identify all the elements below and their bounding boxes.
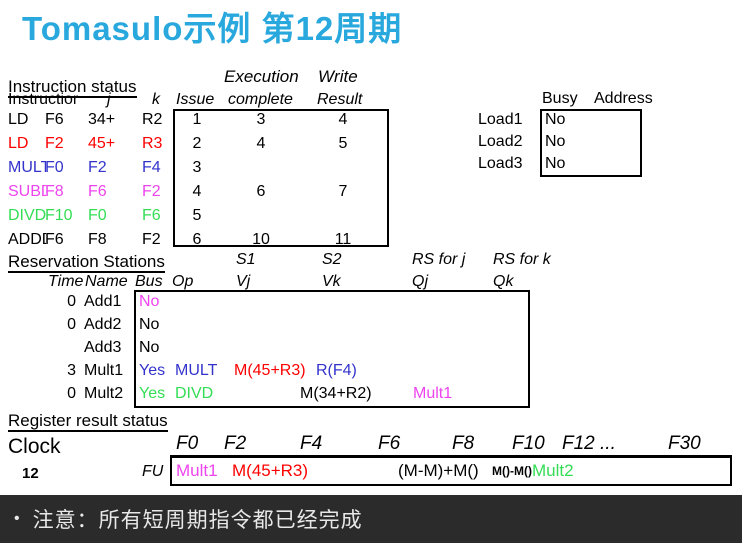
instr-j: 45+ xyxy=(88,136,115,152)
register-value-F0: Mult1 xyxy=(176,462,218,479)
instr-op: SUBD xyxy=(8,184,46,200)
load-unit-name: Load1 xyxy=(478,112,523,128)
instr-k: F6 xyxy=(142,208,161,224)
instr-issue: 1 xyxy=(180,112,214,128)
instr-op: LD xyxy=(8,112,46,128)
header-rs-for-j: RS for j xyxy=(412,252,465,268)
fu-label: FU xyxy=(142,464,163,480)
header-s2: S2 xyxy=(322,252,342,268)
instr-dest: F0 xyxy=(45,160,64,176)
header-time: Time xyxy=(48,274,83,290)
register-header-F4: F4 xyxy=(300,434,322,453)
register-value-F10: Mult2 xyxy=(532,462,574,479)
clock-label: Clock xyxy=(8,436,61,457)
rs-op: MULT xyxy=(175,363,217,379)
instr-complete: 6 xyxy=(240,184,282,200)
instr-op: LD xyxy=(8,136,46,152)
instr-op: ADDD xyxy=(8,232,46,248)
footer-note-bar: • 注意：所有短周期指令都已经完成 xyxy=(0,495,742,543)
header-busy: Busy xyxy=(542,91,578,107)
header-j: j xyxy=(107,92,111,108)
rs-name: Mult1 xyxy=(84,363,123,379)
instr-issue: 5 xyxy=(180,208,214,224)
rs-busy: Yes xyxy=(139,363,165,379)
register-value-F2: M(45+R3) xyxy=(232,462,308,479)
register-header-F8: F8 xyxy=(452,434,474,453)
header-qk: Qk xyxy=(493,274,513,290)
instr-k: R2 xyxy=(142,112,162,128)
instr-j: F8 xyxy=(88,232,107,248)
header-address: Address xyxy=(594,91,653,107)
register-header-F0: F0 xyxy=(176,434,198,453)
instr-dest: F2 xyxy=(45,136,64,152)
load-unit-busy: No xyxy=(545,156,565,172)
rs-name: Add3 xyxy=(84,340,121,356)
instr-k: F2 xyxy=(142,232,161,248)
header-write: Write xyxy=(318,68,358,85)
rs-busy: No xyxy=(139,294,159,310)
register-value-F8: M()-M() xyxy=(492,465,532,477)
slide-root: Tomasulo示例 第12周期 Instruction status Inst… xyxy=(0,0,742,543)
rs-name: Add1 xyxy=(84,294,121,310)
header-rs-for-k: RS for k xyxy=(493,252,551,268)
instr-issue: 3 xyxy=(180,160,214,176)
page-title: Tomasulo示例 第12周期 xyxy=(22,2,402,50)
instr-j: F0 xyxy=(88,208,107,224)
instr-result: 4 xyxy=(322,112,364,128)
rs-vj: M(45+R3) xyxy=(234,363,306,379)
instr-k: F2 xyxy=(142,184,161,200)
instr-dest: F6 xyxy=(45,232,64,248)
bullet-icon: • xyxy=(14,511,21,527)
rs-name: Add2 xyxy=(84,317,121,333)
header-s1: S1 xyxy=(236,252,256,268)
header-execution: Execution xyxy=(224,68,299,85)
register-header-F2: F2 xyxy=(224,434,246,453)
instr-dest: F8 xyxy=(45,184,64,200)
instr-issue: 2 xyxy=(180,136,214,152)
header-result: Result xyxy=(317,92,362,108)
rs-vk: M(34+R2) xyxy=(300,386,372,402)
instr-complete: 10 xyxy=(240,232,282,248)
header-k: k xyxy=(152,92,160,108)
rs-op: DIVD xyxy=(175,386,213,402)
header-qj: Qj xyxy=(412,274,428,290)
register-value-F6: (M-M)+M() xyxy=(398,462,479,479)
load-unit-busy: No xyxy=(545,112,565,128)
rs-time: 0 xyxy=(54,294,76,310)
instr-dest: F10 xyxy=(45,208,73,224)
reservation-stations-label: Reservation Stations xyxy=(8,253,165,273)
rs-busy: No xyxy=(139,340,159,356)
rs-busy: Yes xyxy=(139,386,165,402)
header-name: Name xyxy=(85,274,128,290)
rs-busy: No xyxy=(139,317,159,333)
instr-dest: F6 xyxy=(45,112,64,128)
rs-qj: Mult1 xyxy=(413,386,452,402)
register-header-F30: F30 xyxy=(668,434,701,453)
header-vk: Vk xyxy=(322,274,341,290)
rs-vk: R(F4) xyxy=(316,363,357,379)
header-vj: Vj xyxy=(236,274,250,290)
instr-result: 5 xyxy=(322,136,364,152)
footer-note-text: 注意：所有短周期指令都已经完成 xyxy=(33,504,363,534)
instr-issue: 4 xyxy=(180,184,214,200)
instr-j: F6 xyxy=(88,184,107,200)
instr-issue: 6 xyxy=(180,232,214,248)
instr-j: F2 xyxy=(88,160,107,176)
header-complete: complete xyxy=(228,92,293,108)
instr-complete: 3 xyxy=(240,112,282,128)
register-header-F10: F10 xyxy=(512,434,545,453)
rs-time: 0 xyxy=(54,386,76,402)
load-unit-name: Load2 xyxy=(478,134,523,150)
instr-op: DIVD xyxy=(8,208,46,224)
instr-k: R3 xyxy=(142,136,162,152)
load-unit-name: Load3 xyxy=(478,156,523,172)
instr-k: F4 xyxy=(142,160,161,176)
rs-time: 3 xyxy=(54,363,76,379)
header-instruction: Instructior xyxy=(8,92,100,108)
instr-result: 7 xyxy=(322,184,364,200)
rs-time: 0 xyxy=(54,317,76,333)
header-issue: Issue xyxy=(176,92,214,108)
register-result-status-label: Register result status xyxy=(8,412,168,432)
register-header-F6: F6 xyxy=(378,434,400,453)
instruction-status-box xyxy=(173,109,389,247)
instr-j: 34+ xyxy=(88,112,115,128)
rs-name: Mult2 xyxy=(84,386,123,402)
clock-value: 12 xyxy=(22,466,39,481)
instr-op: MULT xyxy=(8,160,46,176)
header-op: Op xyxy=(172,274,193,290)
instr-complete: 4 xyxy=(240,136,282,152)
register-header-F12: F12 ... xyxy=(562,434,616,453)
header-busy-rs: Bus xyxy=(135,274,163,290)
load-unit-busy: No xyxy=(545,134,565,150)
instr-result: 11 xyxy=(322,232,364,248)
